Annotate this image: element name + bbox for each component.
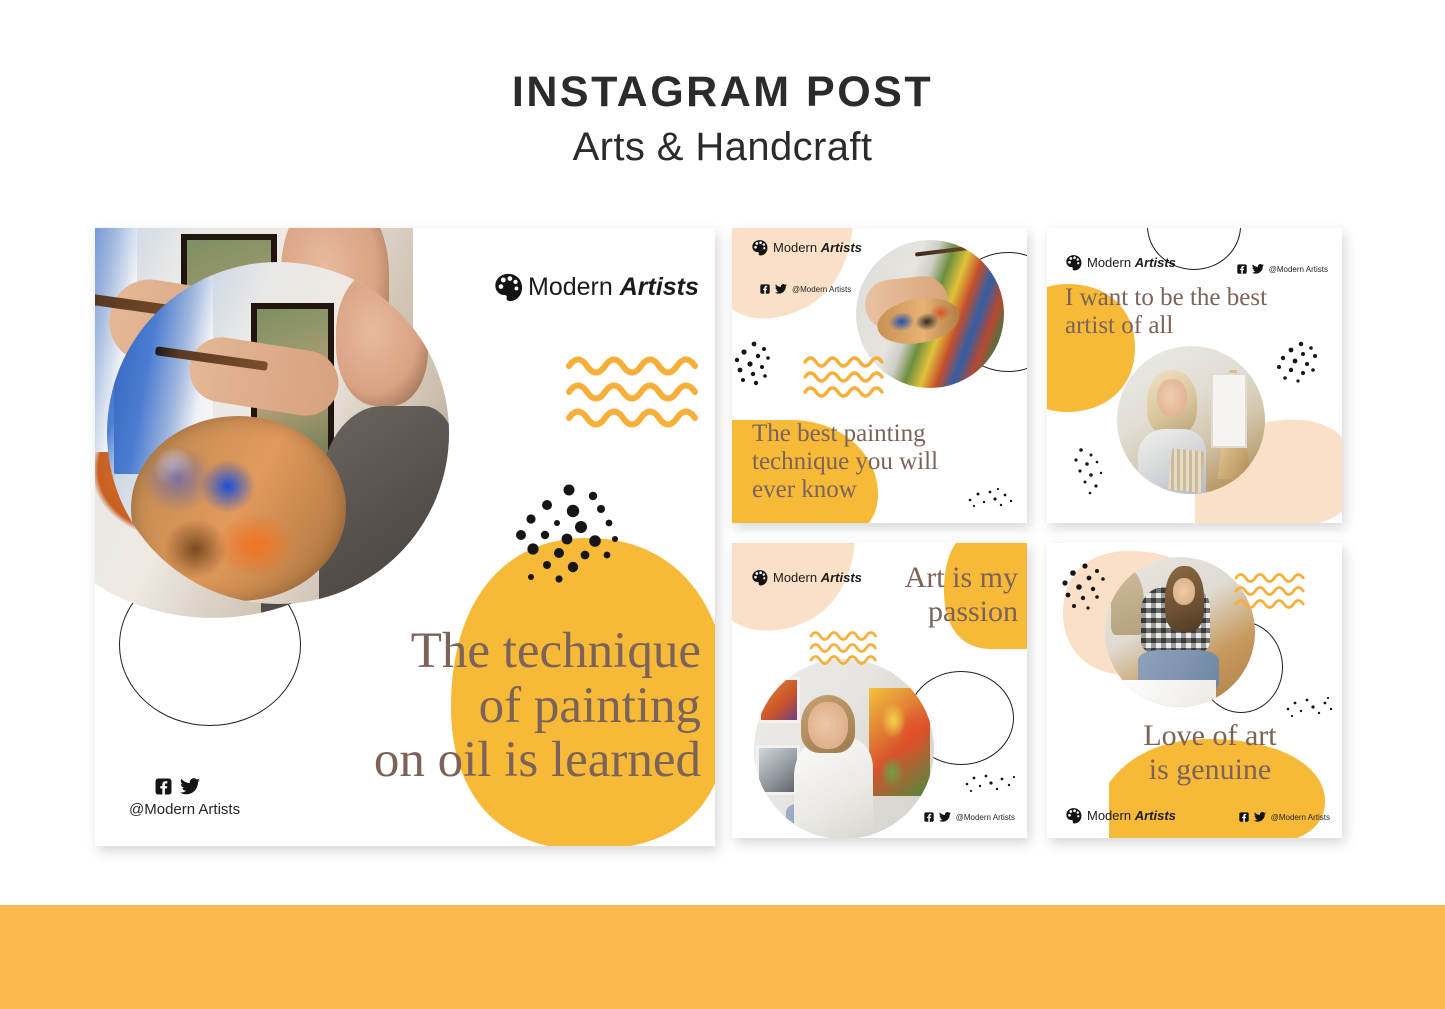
brand-name: Modern Artists: [773, 570, 862, 585]
post-card-4[interactable]: Modern Artists Art is my passion: [732, 543, 1027, 838]
mockup-grid: Modern Artists: [0, 228, 1445, 848]
social-block[interactable]: @Modern Artists: [760, 284, 851, 294]
page-title: INSTAGRAM POST: [0, 0, 1445, 115]
twitter-icon[interactable]: [939, 812, 951, 822]
post-headline: I want to be the best artist of all: [1065, 284, 1333, 340]
headline-line: technique you will: [752, 448, 1002, 476]
page-subtitle: Arts & Handcraft: [0, 115, 1445, 169]
page-header: INSTAGRAM POST Arts & Handcraft: [0, 0, 1445, 169]
twitter-icon[interactable]: [1254, 812, 1266, 822]
brand-lockup: Modern Artists: [751, 239, 862, 256]
palette-icon: [751, 569, 768, 586]
post-headline: Love of art is genuine: [1101, 719, 1319, 787]
headline-line: The technique: [215, 624, 701, 679]
headline-line: The best painting: [752, 420, 1002, 448]
social-handle: @Modern Artists: [956, 813, 1015, 822]
post-photo: [754, 659, 934, 838]
twitter-icon[interactable]: [775, 284, 787, 294]
dot-cluster-decor: [511, 483, 641, 599]
palette-icon: [493, 272, 523, 302]
headline-line: I want to be the best: [1065, 284, 1333, 312]
facebook-icon[interactable]: [1237, 264, 1247, 274]
dot-sprinkle-decor: [1283, 695, 1337, 719]
social-handle: @Modern Artists: [1269, 265, 1328, 274]
social-block[interactable]: @Modern Artists: [129, 778, 240, 818]
twitter-icon[interactable]: [180, 778, 200, 795]
dot-cluster-decor: [1273, 340, 1321, 390]
headline-line: of painting: [215, 679, 701, 734]
facebook-icon[interactable]: [1239, 812, 1249, 822]
post-card-3[interactable]: Modern Artists @Modern Artists I want to…: [1047, 228, 1342, 523]
palette-icon: [751, 239, 768, 256]
social-block[interactable]: @Modern Artists: [924, 812, 1015, 822]
facebook-icon[interactable]: [760, 284, 770, 294]
post-photo: [1117, 346, 1265, 494]
brand-lockup: Modern Artists: [1065, 254, 1176, 271]
dot-cluster-decor: [732, 340, 776, 390]
social-handle: @Modern Artists: [129, 801, 240, 818]
post-card-main[interactable]: Modern Artists: [95, 228, 715, 846]
social-handle: @Modern Artists: [1271, 813, 1330, 822]
post-headline: Art is my passion: [850, 561, 1018, 628]
brand-name: Modern Artists: [1087, 255, 1176, 270]
headline-line: Love of art: [1101, 719, 1319, 753]
facebook-icon[interactable]: [924, 812, 934, 822]
post-card-5[interactable]: Love of art is genuine Modern Artists: [1047, 543, 1342, 838]
headline-line: artist of all: [1065, 312, 1333, 340]
brand-name: Modern Artists: [773, 240, 862, 255]
headline-line: on oil is learned: [215, 733, 701, 788]
wavy-lines-decor: [565, 352, 711, 430]
dot-sprinkle-decor: [962, 771, 1018, 795]
brand-name: Modern Artists: [1087, 808, 1176, 823]
facebook-icon[interactable]: [155, 778, 172, 795]
headline-line: passion: [850, 595, 1018, 629]
brand-lockup: Modern Artists: [751, 569, 862, 586]
brand-lockup: Modern Artists: [1065, 807, 1176, 824]
wavy-lines-decor: [802, 354, 892, 398]
dot-sprinkle-decor: [964, 486, 1018, 512]
social-handle: @Modern Artists: [792, 285, 851, 294]
dot-cluster-decor: [1059, 561, 1115, 615]
wavy-lines-decor: [808, 629, 882, 665]
twitter-icon[interactable]: [1252, 264, 1264, 274]
wavy-lines-decor: [1233, 571, 1311, 609]
post-card-2[interactable]: Modern Artists @Modern Artists: [732, 228, 1027, 523]
brand-name: Modern Artists: [528, 273, 699, 302]
social-block[interactable]: @Modern Artists: [1237, 264, 1328, 274]
brand-lockup: Modern Artists: [493, 272, 699, 302]
dot-sprinkle-decor: [1071, 446, 1111, 498]
palette-icon: [1065, 807, 1082, 824]
bottom-color-band: [0, 905, 1445, 1009]
headline-line: Art is my: [850, 561, 1018, 595]
headline-line: is genuine: [1101, 753, 1319, 787]
post-headline: The technique of painting on oil is lear…: [215, 624, 701, 788]
post-photo-circle: [107, 262, 449, 604]
social-block[interactable]: @Modern Artists: [1239, 812, 1330, 822]
palette-icon: [1065, 254, 1082, 271]
